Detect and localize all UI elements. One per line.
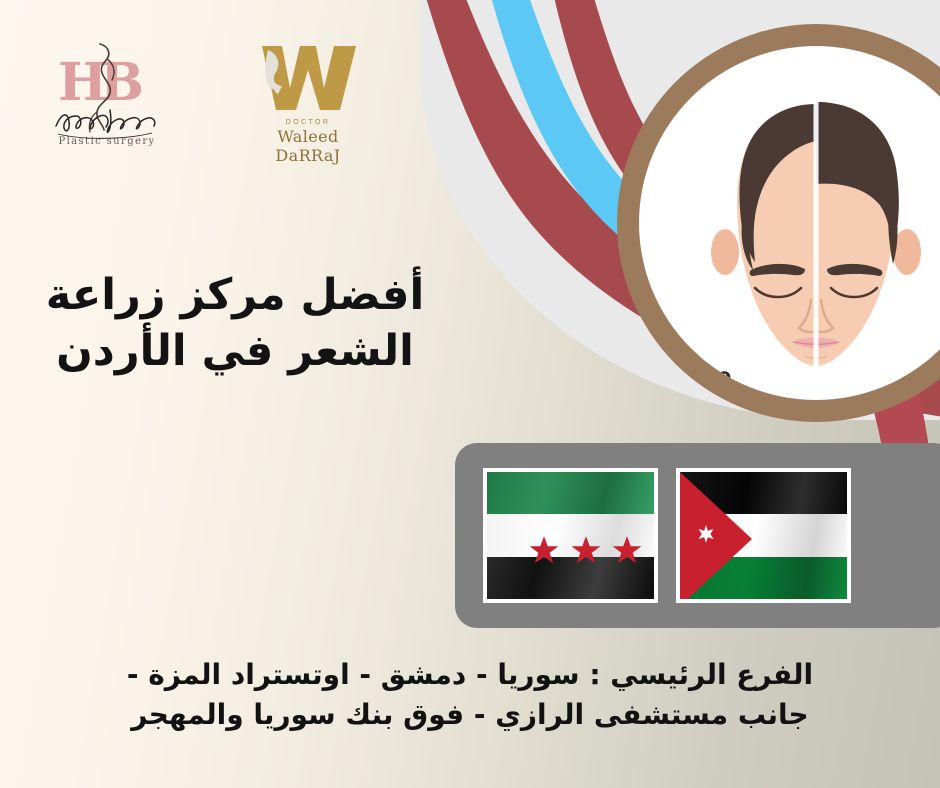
jordan-chevron xyxy=(680,472,752,603)
page-title: أفضل مركز زراعة الشعر في الأردن xyxy=(0,268,470,380)
flag-syria xyxy=(483,468,658,603)
poster-canvas: H B Plastic surgery DOCTOR xyxy=(0,0,940,788)
address-line-1: الفرع الرئيسي : سوريا - دمشق - اوتستراد … xyxy=(28,655,912,695)
logo-haitham-bittar: H B Plastic surgery xyxy=(52,40,162,148)
before-label: Before xyxy=(653,364,731,388)
logo-row: H B Plastic surgery DOCTOR xyxy=(52,40,368,148)
before-after-labels: Before After xyxy=(639,364,940,388)
branch-address: الفرع الرئيسي : سوريا - دمشق - اوتستراد … xyxy=(0,655,940,735)
wd-title: Waleed DaRRaJ xyxy=(248,127,368,165)
address-line-2: جانب مستشفى الرازي - فوق بنك سوريا والمه… xyxy=(28,695,912,735)
flag-panel xyxy=(455,443,940,628)
hb-tagline: Plastic surgery xyxy=(52,136,162,147)
medallion-inner: Before After xyxy=(639,46,940,400)
logo-waleed-darraj: DOCTOR Waleed DaRRaJ xyxy=(248,40,368,142)
syria-stars xyxy=(487,514,654,556)
jordan-star-icon xyxy=(696,524,716,548)
w-monogram-icon xyxy=(248,40,368,114)
after-label: After xyxy=(919,364,940,388)
syria-stripe-green xyxy=(487,472,654,514)
flag-jordan xyxy=(676,468,851,603)
before-after-head-illustration xyxy=(709,102,923,370)
wd-prefix: DOCTOR xyxy=(248,119,368,126)
